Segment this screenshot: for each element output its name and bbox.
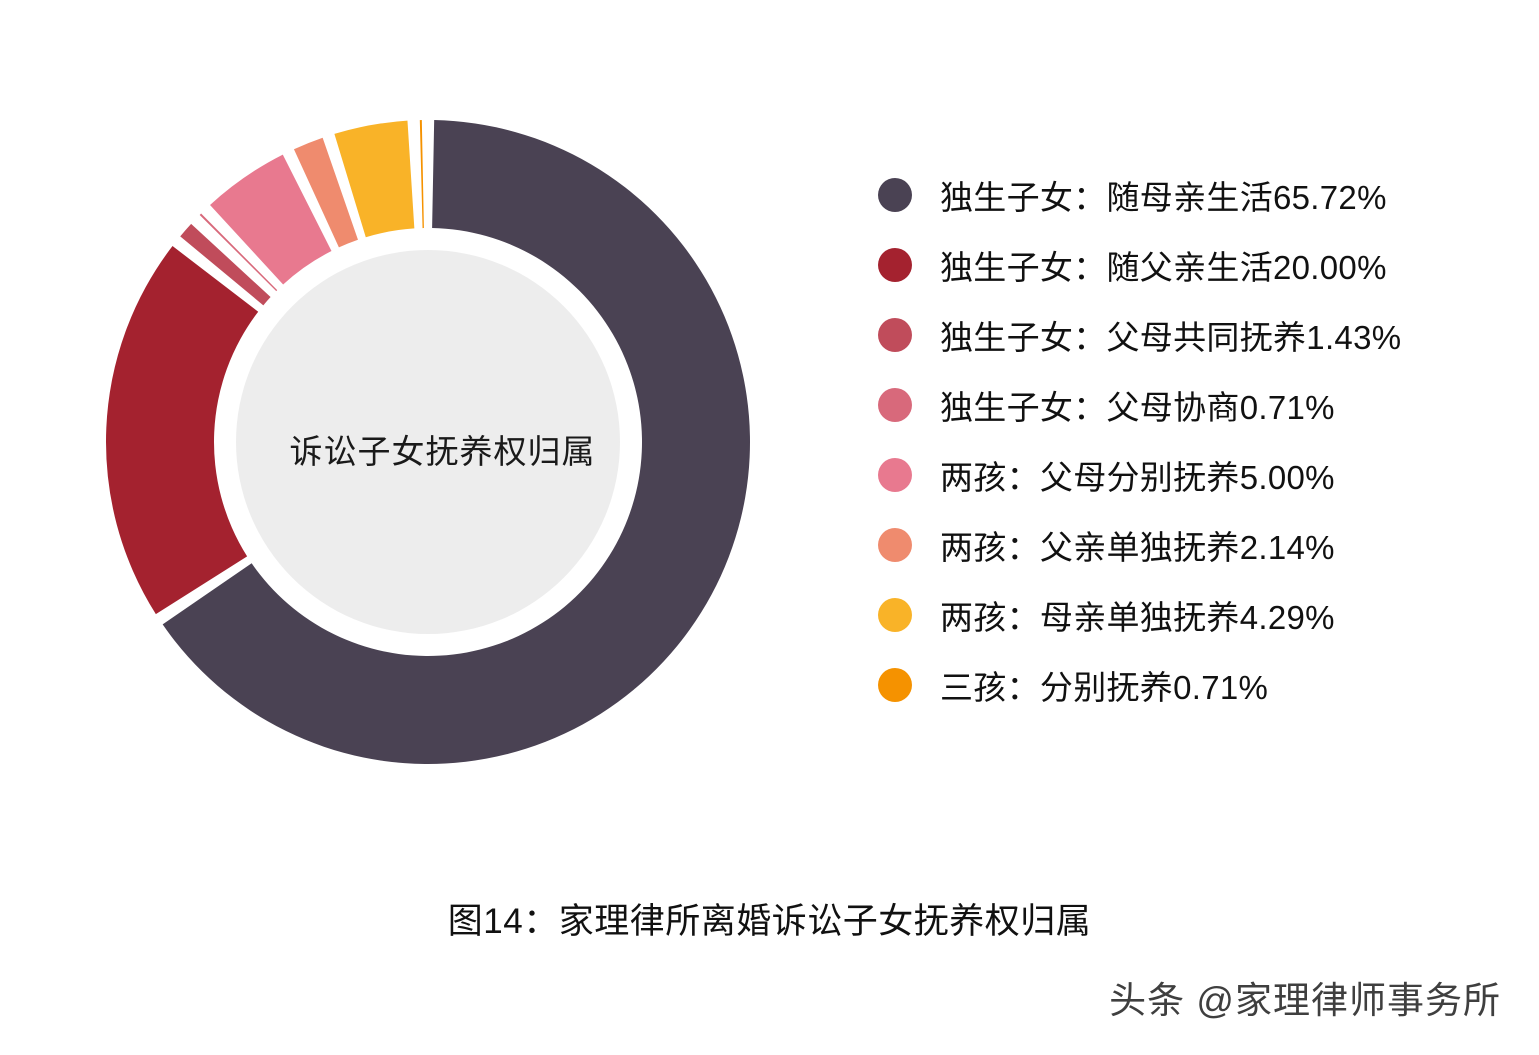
donut-center-disc bbox=[236, 250, 620, 634]
figure-container: 诉讼子女抚养权归属 独生子女：随母亲生活65.72%独生子女：随父亲生活20.0… bbox=[0, 0, 1539, 1055]
legend-item-label: 独生子女：父母共同抚养1.43% bbox=[940, 311, 1401, 359]
legend-swatch-dot-icon bbox=[878, 318, 912, 352]
legend-item-label: 两孩：父母分别抚养5.00% bbox=[940, 451, 1335, 499]
legend-item[interactable]: 独生子女：随母亲生活65.72% bbox=[878, 160, 1478, 230]
legend-swatch-dot-icon bbox=[878, 388, 912, 422]
donut-slice[interactable] bbox=[106, 246, 258, 614]
legend-swatch-dot-icon bbox=[878, 248, 912, 282]
legend-item[interactable]: 两孩：母亲单独抚养4.29% bbox=[878, 580, 1478, 650]
legend-item-label: 两孩：父亲单独抚养2.14% bbox=[940, 521, 1335, 569]
legend-item[interactable]: 三孩：分别抚养0.71% bbox=[878, 650, 1478, 720]
legend-item-label: 独生子女：随父亲生活20.00% bbox=[940, 241, 1387, 289]
donut-slice[interactable] bbox=[420, 120, 424, 228]
legend-swatch-dot-icon bbox=[878, 178, 912, 212]
donut-chart: 诉讼子女抚养权归属 bbox=[60, 90, 820, 810]
watermark-text: 头条 @家理律师事务所 bbox=[1109, 970, 1501, 1024]
legend-item[interactable]: 独生子女：随父亲生活20.00% bbox=[878, 230, 1478, 300]
legend-item-label: 独生子女：随母亲生活65.72% bbox=[940, 171, 1387, 219]
figure-caption: 图14：家理律所离婚诉讼子女抚养权归属 bbox=[0, 893, 1539, 944]
legend-swatch-dot-icon bbox=[878, 598, 912, 632]
legend-item-label: 两孩：母亲单独抚养4.29% bbox=[940, 591, 1335, 639]
legend-item[interactable]: 独生子女：父母协商0.71% bbox=[878, 370, 1478, 440]
legend-swatch-dot-icon bbox=[878, 528, 912, 562]
legend-item-label: 三孩：分别抚养0.71% bbox=[940, 661, 1268, 709]
legend-item[interactable]: 两孩：父亲单独抚养2.14% bbox=[878, 510, 1478, 580]
chart-legend: 独生子女：随母亲生活65.72%独生子女：随父亲生活20.00%独生子女：父母共… bbox=[878, 160, 1478, 720]
legend-swatch-dot-icon bbox=[878, 458, 912, 492]
legend-item-label: 独生子女：父母协商0.71% bbox=[940, 381, 1335, 429]
donut-chart-svg bbox=[60, 90, 820, 810]
legend-item[interactable]: 两孩：父母分别抚养5.00% bbox=[878, 440, 1478, 510]
legend-swatch-dot-icon bbox=[878, 668, 912, 702]
legend-item[interactable]: 独生子女：父母共同抚养1.43% bbox=[878, 300, 1478, 370]
